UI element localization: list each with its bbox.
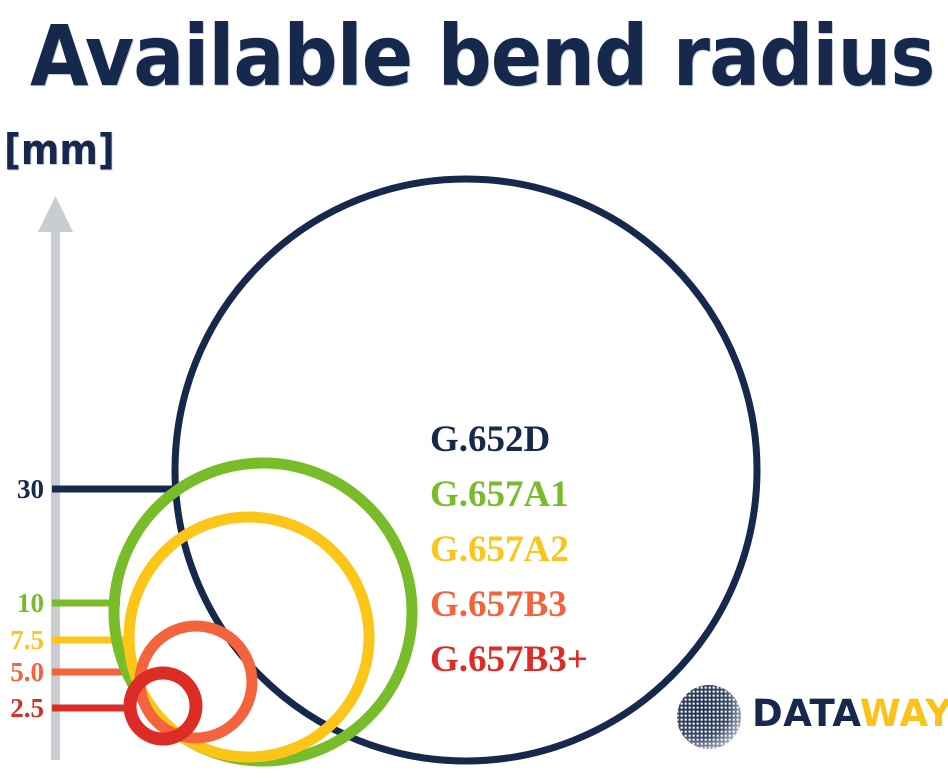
tick-label-7-5: 7.5 [0,627,44,654]
tick-label-2-5: 2.5 [0,695,44,722]
legend: G.652D G.657A1 G.657A2 G.657B3 G.657B3+ [430,412,730,687]
infographic-canvas: Available bend radius [mm] 30 10 7.5 [0,0,948,780]
legend-item-g652d: G.652D [430,412,730,467]
halftone-globe-icon [672,678,746,752]
legend-item-g657a2: G.657A2 [430,522,730,577]
tick-label-10: 10 [0,590,44,617]
legend-item-g657a1: G.657A1 [430,467,730,522]
legend-item-g657b3: G.657B3 [430,577,730,632]
tick-label-5-0: 5.0 [0,659,44,686]
logo-text-data: DATA [752,692,860,735]
tick-label-30: 30 [0,476,44,503]
logo-text-way: WAY [860,692,948,735]
logo-wordmark: DATAWAY [752,692,948,736]
brand-logo: DATAWAY [672,678,934,754]
